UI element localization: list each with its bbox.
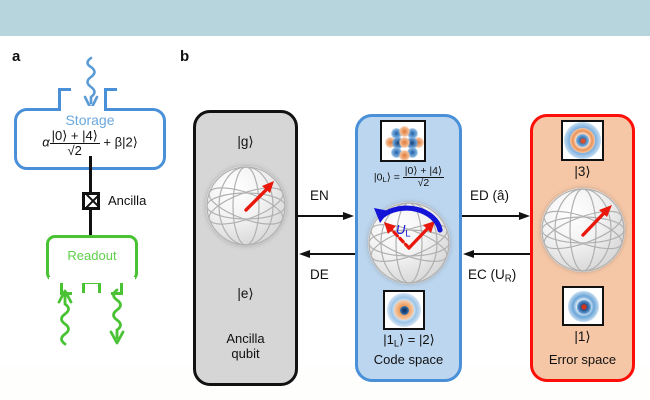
wigner-inset-fock-3 <box>561 120 604 161</box>
ancilla-caption-line2: qubit <box>231 346 259 361</box>
figure-canvas: a Storage α|0⟩ + |4⟩√2 + β|2⟩ Ancilla Re… <box>0 36 650 366</box>
logical-gate-symbol: U <box>396 222 405 237</box>
storage-prong-left-cap <box>58 88 71 91</box>
storage-fraction: |0⟩ + |4⟩√2 <box>50 129 100 157</box>
ancilla-top-ket: |g⟩ <box>193 134 298 150</box>
ancilla-caption-line1: Ancilla <box>226 331 264 346</box>
logical-one-definition: |1L⟩ = |2⟩ <box>356 332 462 348</box>
logical-gate-label: UL <box>396 222 411 238</box>
josephson-junction-icon <box>82 192 100 210</box>
wigner-inset-cat-state <box>380 120 426 162</box>
ancilla-junction-label: Ancilla <box>108 193 146 208</box>
panel-a-label: a <box>12 48 20 65</box>
readout-notch <box>49 277 135 283</box>
error-space-caption: Error space <box>530 353 635 368</box>
logical-one-ket-pre: |1 <box>383 332 394 347</box>
transition-ec-label-pre: EC (U <box>468 267 505 282</box>
transition-ec-arrow <box>462 248 532 260</box>
storage-to-junction-wire <box>89 156 92 194</box>
ancilla-bloch-graticule <box>206 166 286 246</box>
transition-de-label: DE <box>310 267 329 282</box>
transition-ec-label-sub: R <box>505 273 512 284</box>
storage-fraction-numerator: |0⟩ + |4⟩ <box>50 129 100 144</box>
transition-ed-arrow <box>462 210 532 222</box>
wigner-inset-fock-2 <box>383 290 425 330</box>
storage-title: Storage <box>14 112 166 128</box>
readout-out-wavy-arrow-icon <box>104 288 130 346</box>
logical-zero-ket-pre: |0 <box>374 171 383 183</box>
logical-one-rest: ⟩ = |2⟩ <box>399 332 435 347</box>
readout-in-wavy-arrow-icon <box>52 288 78 346</box>
logical-gate-subscript: L <box>405 228 410 238</box>
wigner-inset-fock-1 <box>562 286 604 326</box>
transition-en-label: EN <box>310 188 329 203</box>
ancilla-block-caption: Ancilla qubit <box>193 332 298 361</box>
top-banner <box>0 0 650 36</box>
readout-title: Readout <box>46 248 138 263</box>
error-top-ket: |3⟩ <box>530 164 635 180</box>
ancilla-bloch-sphere <box>206 166 286 246</box>
ancilla-bottom-ket: |e⟩ <box>193 286 298 302</box>
storage-drive-wavy-arrow-icon <box>74 56 108 112</box>
transition-ed-label: ED (â) <box>470 188 509 203</box>
transition-en-arrow <box>298 210 356 222</box>
error-space-bloch-sphere <box>541 188 625 272</box>
transition-de-arrow <box>298 248 356 260</box>
error-bottom-ket: |1⟩ <box>530 329 635 345</box>
storage-alpha: α <box>42 135 49 150</box>
logical-zero-eq: ⟩ = <box>387 171 400 183</box>
transition-ec-label: EC (UR) <box>468 267 516 284</box>
transition-ec-label-post: ) <box>512 267 517 282</box>
code-space-caption: Code space <box>355 353 462 368</box>
figure-root: a Storage α|0⟩ + |4⟩√2 + β|2⟩ Ancilla Re… <box>0 0 650 400</box>
panel-b-label: b <box>180 48 189 65</box>
storage-state-tail: + β|2⟩ <box>103 135 137 150</box>
storage-prong-right-cap <box>104 88 117 91</box>
error-bloch-graticule <box>541 188 625 272</box>
storage-prong-right <box>104 88 107 110</box>
storage-state-expression: α|0⟩ + |4⟩√2 + β|2⟩ <box>10 129 170 157</box>
